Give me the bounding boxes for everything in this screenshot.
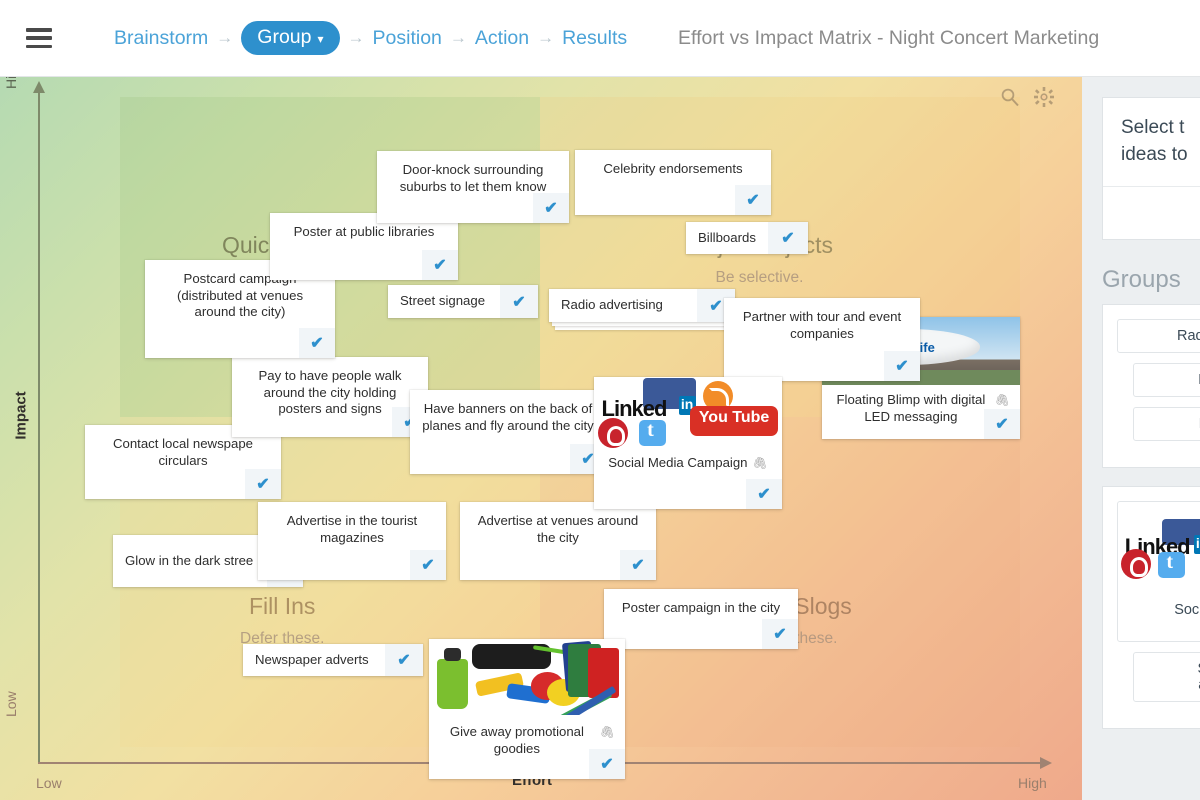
idea-card-thumbnail: Linkedin You Tube — [594, 377, 782, 449]
idea-card[interactable]: Poster at public libraries ✔ — [270, 213, 458, 280]
group-header-chip[interactable]: Linkedin You Tube Social M — [1117, 501, 1200, 642]
breadcrumb-item-group-label: Group — [257, 26, 311, 49]
idea-card-check[interactable]: ✔ — [762, 619, 798, 649]
group-item-chip[interactable]: Loc — [1133, 363, 1200, 397]
idea-card-check[interactable]: ✔ — [746, 479, 782, 509]
paperclip-icon[interactable]: 🖇 — [753, 455, 768, 472]
idea-card[interactable]: Pay to have people walk around the city … — [232, 357, 428, 437]
breadcrumb-arrow-1: → — [216, 28, 233, 48]
idea-card-stack-shadow — [552, 322, 732, 326]
page-title: Effort vs Impact Matrix - Night Concert … — [678, 27, 1099, 50]
y-axis-high-label: High — [3, 77, 19, 89]
idea-card[interactable]: Billboards ✔ — [686, 222, 808, 254]
selection-prompt-panel: Select t ideas to — [1102, 97, 1200, 240]
idea-card-check[interactable]: ✔ — [620, 550, 656, 580]
y-axis — [38, 91, 40, 763]
breadcrumb-arrow-2: → — [348, 28, 365, 48]
idea-card[interactable]: Celebrity endorsements ✔ — [575, 150, 771, 215]
group-chip-thumbnail: Linkedin You Tube — [1118, 518, 1200, 580]
idea-card[interactable]: Advertise at venues around the city ✔ — [460, 502, 656, 580]
idea-card-stack-shadow — [555, 326, 729, 330]
idea-card-check[interactable]: ✔ — [385, 644, 423, 676]
breadcrumb-item-results[interactable]: Results — [562, 27, 627, 50]
breadcrumb-arrow-4: → — [537, 28, 554, 48]
idea-card-check[interactable]: ✔ — [299, 328, 335, 358]
idea-card[interactable]: Newspaper adverts ✔ — [243, 644, 423, 676]
idea-card[interactable]: Partner with tour and event companies ✔ — [724, 298, 920, 381]
idea-card-check[interactable]: ✔ — [984, 409, 1020, 439]
idea-card-thumbnail — [429, 639, 625, 715]
top-bar: Brainstorm → Group ▾ → Position → Action… — [0, 0, 1200, 77]
idea-card-check[interactable]: ✔ — [768, 222, 808, 254]
idea-card[interactable]: Poster campaign in the city ✔ — [604, 589, 798, 649]
selection-prompt-text: Select t ideas to — [1103, 98, 1200, 187]
gear-icon[interactable] — [1034, 87, 1054, 107]
group-card-radio-advertising[interactable]: Radio a Loc Nat — [1102, 304, 1200, 468]
idea-card-check[interactable]: ✔ — [533, 193, 569, 223]
group-card-social-media[interactable]: Linkedin You Tube Social M Soc adv — [1102, 486, 1200, 729]
paperclip-icon[interactable]: 🖇 — [600, 724, 615, 741]
idea-card-check[interactable]: ✔ — [884, 351, 920, 381]
idea-card[interactable]: Give away promotional goodies 🖇 ✔ — [429, 639, 625, 779]
right-sidebar: Select t ideas to Groups Radio a Loc Nat… — [1082, 77, 1200, 800]
hamburger-icon[interactable] — [26, 28, 52, 48]
idea-card-text: Floating Blimp with digital LED messagin… — [832, 392, 990, 425]
matrix-canvas[interactable]: Impact High Low Effort Low High Quick Wi… — [0, 77, 1082, 800]
breadcrumb-item-brainstorm[interactable]: Brainstorm — [114, 27, 208, 50]
idea-card-check[interactable]: ✔ — [735, 185, 771, 215]
idea-card-text: Social Media Campaign — [608, 455, 747, 472]
idea-card-check[interactable]: ✔ — [422, 250, 458, 280]
y-axis-low-label: Low — [3, 691, 19, 717]
idea-card-check[interactable]: ✔ — [500, 285, 538, 318]
social-media-logos-image: Linkedin You Tube — [1118, 518, 1200, 580]
breadcrumb-item-group[interactable]: Group ▾ — [241, 21, 339, 55]
paperclip-icon[interactable]: 🖇 — [995, 392, 1010, 409]
idea-card-check[interactable]: ✔ — [589, 749, 625, 779]
breadcrumb-item-action[interactable]: Action — [475, 27, 529, 50]
idea-card-check[interactable]: ✔ — [245, 469, 281, 499]
promo-goodies-photo-image — [429, 639, 625, 715]
group-chip-label: Social M — [1118, 596, 1200, 618]
breadcrumb: Brainstorm → Group ▾ → Position → Action… — [114, 21, 627, 55]
search-icon[interactable] — [1000, 87, 1020, 107]
social-media-logos-image: Linkedin You Tube — [594, 377, 782, 449]
y-axis-title: Impact — [13, 391, 30, 439]
idea-card-text: Give away promotional goodies — [439, 724, 595, 757]
x-axis-low-label: Low — [36, 775, 62, 791]
group-item-chip[interactable]: Nat — [1133, 407, 1200, 441]
canvas-toolbar — [1000, 87, 1054, 107]
breadcrumb-arrow-3: → — [450, 28, 467, 48]
idea-card[interactable]: Have banners on the back of planes and f… — [410, 390, 606, 474]
idea-card[interactable]: Door-knock surrounding suburbs to let th… — [377, 151, 569, 223]
groups-section-title: Groups — [1102, 266, 1200, 294]
breadcrumb-item-position[interactable]: Position — [373, 27, 442, 50]
group-header-chip[interactable]: Radio a — [1117, 319, 1200, 353]
idea-card[interactable]: Advertise in the tourist magazines ✔ — [258, 502, 446, 580]
idea-card[interactable]: Linkedin You Tube Social Media Campaign … — [594, 377, 782, 509]
x-axis-high-label: High — [1018, 775, 1047, 791]
chevron-down-icon: ▾ — [317, 33, 323, 45]
group-item-chip[interactable]: Soc adv — [1133, 652, 1200, 702]
idea-card[interactable]: Street signage ✔ — [388, 285, 538, 318]
idea-card-check[interactable]: ✔ — [410, 550, 446, 580]
selection-prompt-body — [1103, 187, 1200, 239]
idea-card[interactable]: Radio advertising ✔ — [549, 289, 735, 322]
